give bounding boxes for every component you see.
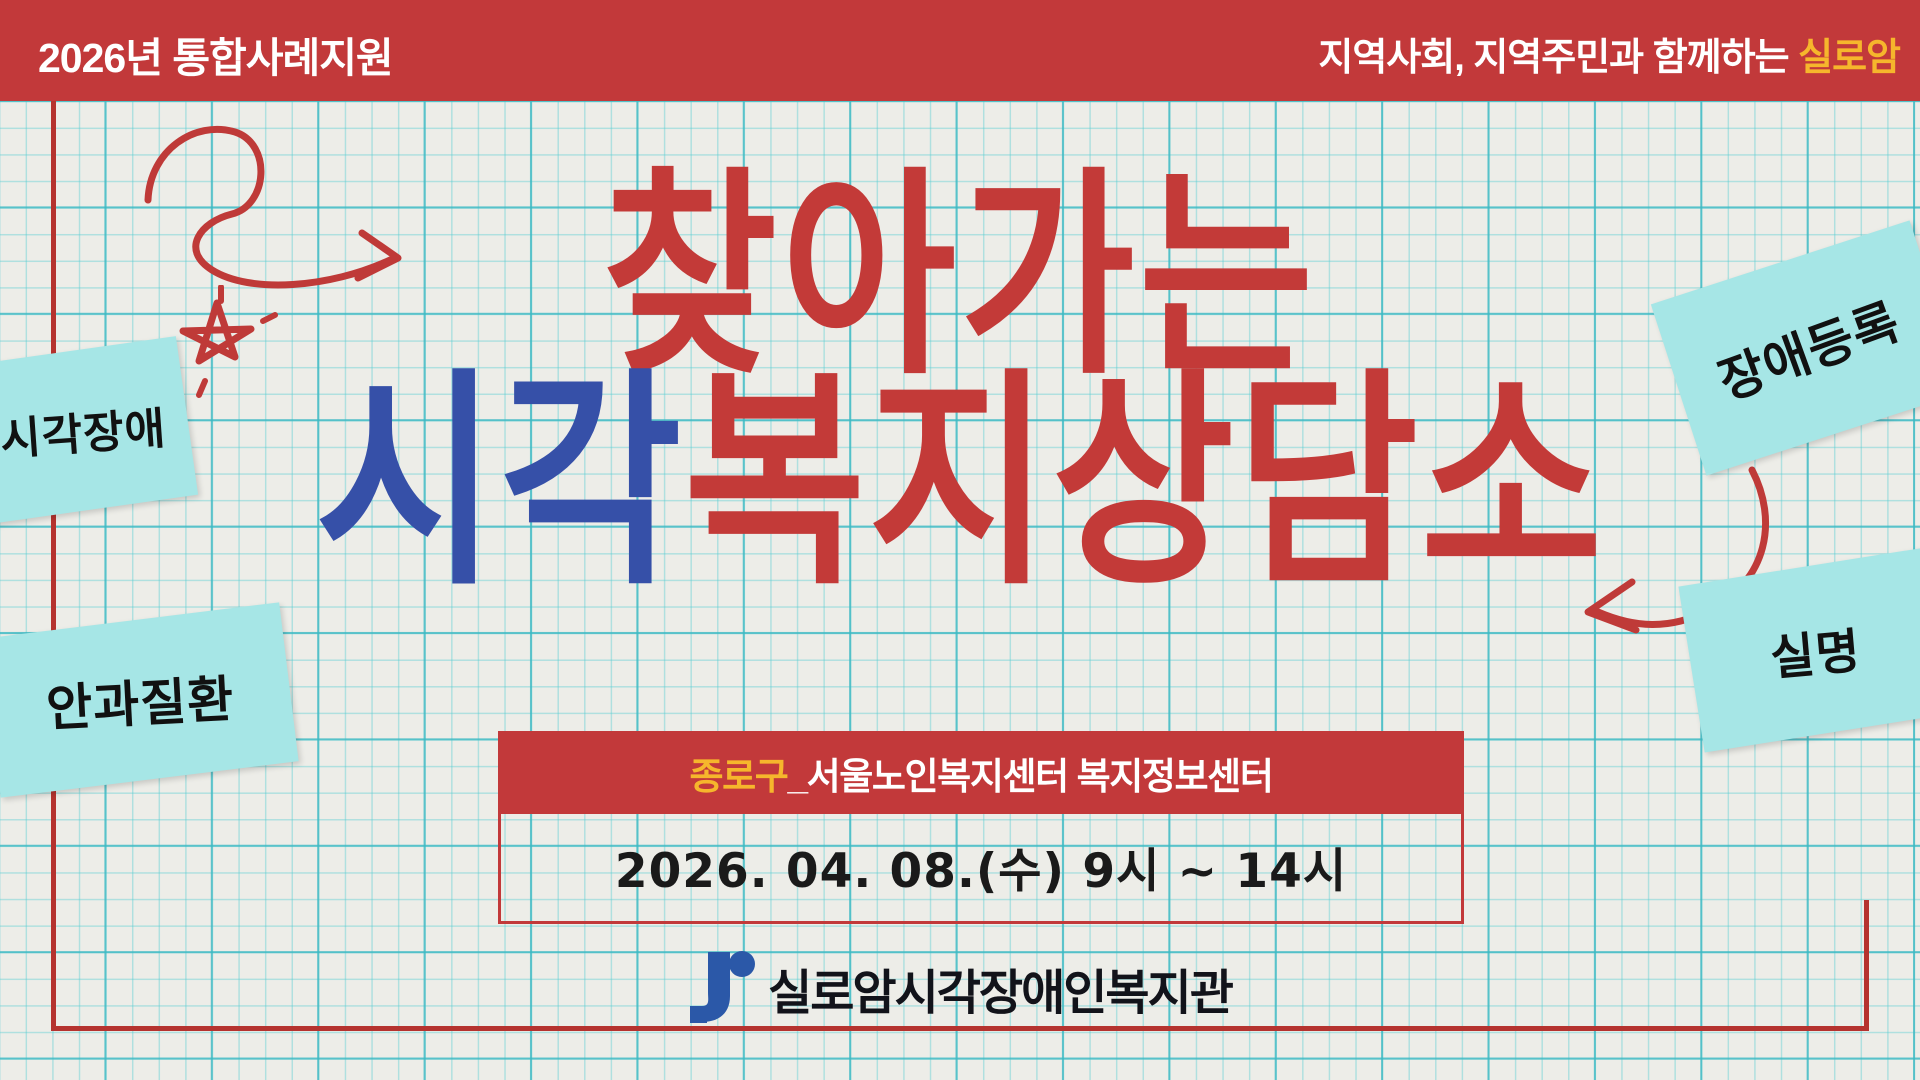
brand-name: 실로암 (1798, 37, 1900, 79)
sticky-note-label: 시각장애 (0, 392, 168, 467)
header-bar: 2026년 통합사례지원 지역사회, 지역주민과 함께하는 실로암 (0, 0, 1920, 101)
sticky-note-label: 실명 (1767, 611, 1863, 689)
venue-name: _서울노인복지센터 복지정보센터 (787, 756, 1272, 797)
sticky-note-label: 안과질환 (44, 659, 236, 741)
program-year-label: 2026년 통합사례지원 (38, 24, 393, 84)
organization-logo: 실로암시각장애인복지관 (0, 948, 1920, 1028)
poster-canvas: 2026년 통합사례지원 지역사회, 지역주민과 함께하는 실로암 찾아가는 시… (0, 0, 1920, 1080)
title-line-1: 찾아가는 (0, 175, 1920, 379)
event-location: 종로구_서울노인복지센터 복지정보센터 (501, 734, 1461, 814)
district-name: 종로구 (690, 756, 788, 797)
event-info-box: 종로구_서울노인복지센터 복지정보센터 2026. 04. 08.(수) 9시 … (498, 731, 1464, 924)
title-line-2: 시각복지상담소 (0, 375, 1920, 591)
slogan: 지역사회, 지역주민과 함께하는 실로암 (1318, 26, 1900, 81)
silloam-j-logo-icon (688, 948, 758, 1028)
sticky-note-visual-impairment: 시각장애 (0, 336, 198, 524)
slogan-text: 지역사회, 지역주민과 함께하는 (1318, 37, 1798, 79)
poster-title: 찾아가는 시각복지상담소 (0, 175, 1920, 561)
sticky-note-label: 장애등록 (1707, 282, 1908, 414)
title-highlight-blue: 시각 (315, 354, 683, 610)
event-datetime: 2026. 04. 08.(수) 9시 ~ 14시 (501, 814, 1461, 921)
title-line-2-rest: 복지상담소 (684, 354, 1605, 610)
organization-name: 실로암시각장애인복지관 (768, 953, 1232, 1023)
